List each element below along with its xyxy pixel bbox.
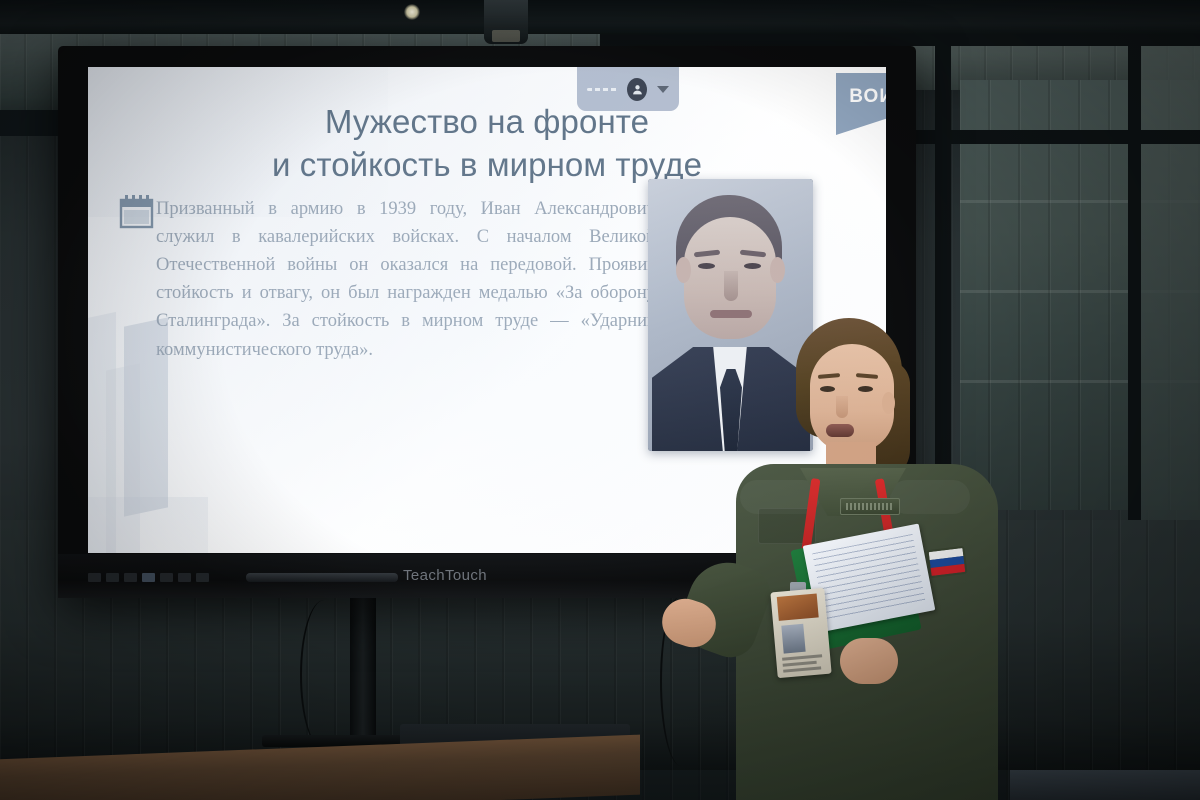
bezel-button-row[interactable]: [88, 573, 209, 582]
window-mullion: [1128, 0, 1141, 540]
bezel-button-back[interactable]: [196, 573, 209, 582]
floating-toolbar[interactable]: [577, 67, 679, 111]
spot-light-icon: [404, 4, 420, 20]
chevron-down-icon[interactable]: [657, 86, 669, 93]
name-tag: [840, 498, 900, 515]
bezel-button-vol-up[interactable]: [178, 573, 191, 582]
display-brand-label: TeachTouch: [403, 567, 487, 584]
presenter-right-hand: [840, 638, 898, 684]
russian-flag-patch-icon: [926, 546, 967, 578]
window-far-right: [1140, 0, 1200, 520]
presenter-mouth: [826, 424, 854, 437]
bezel-button-power[interactable]: [88, 573, 101, 582]
bezel-button-menu[interactable]: [106, 573, 119, 582]
id-badge: [770, 588, 831, 678]
side-surface: [1010, 770, 1200, 800]
screenshot-root: ВОИН Мужество на фронте и стойкость в ми…: [0, 0, 1200, 800]
presenter: [650, 300, 1010, 800]
bezel-button-home[interactable]: [142, 573, 155, 582]
slide-decoration: [106, 363, 140, 553]
user-account-icon[interactable]: [627, 78, 647, 101]
slide-title: Мужество на фронте и стойкость в мирном …: [88, 101, 886, 187]
presenter-face: [810, 344, 894, 452]
projector-icon: [484, 0, 528, 44]
cable: [300, 600, 348, 750]
presenter-ear: [882, 392, 895, 414]
display-stand-column: [350, 598, 376, 748]
bezel-button-source[interactable]: [124, 573, 137, 582]
drag-handle-icon[interactable]: [587, 88, 619, 91]
calendar-icon: [118, 195, 155, 229]
slide-body-text: Призванный в армию в 1939 году, Иван Але…: [156, 195, 656, 364]
bezel-button-vol-down[interactable]: [160, 573, 173, 582]
speaker-grille: [246, 573, 398, 582]
ceiling-beam: [0, 0, 1200, 34]
